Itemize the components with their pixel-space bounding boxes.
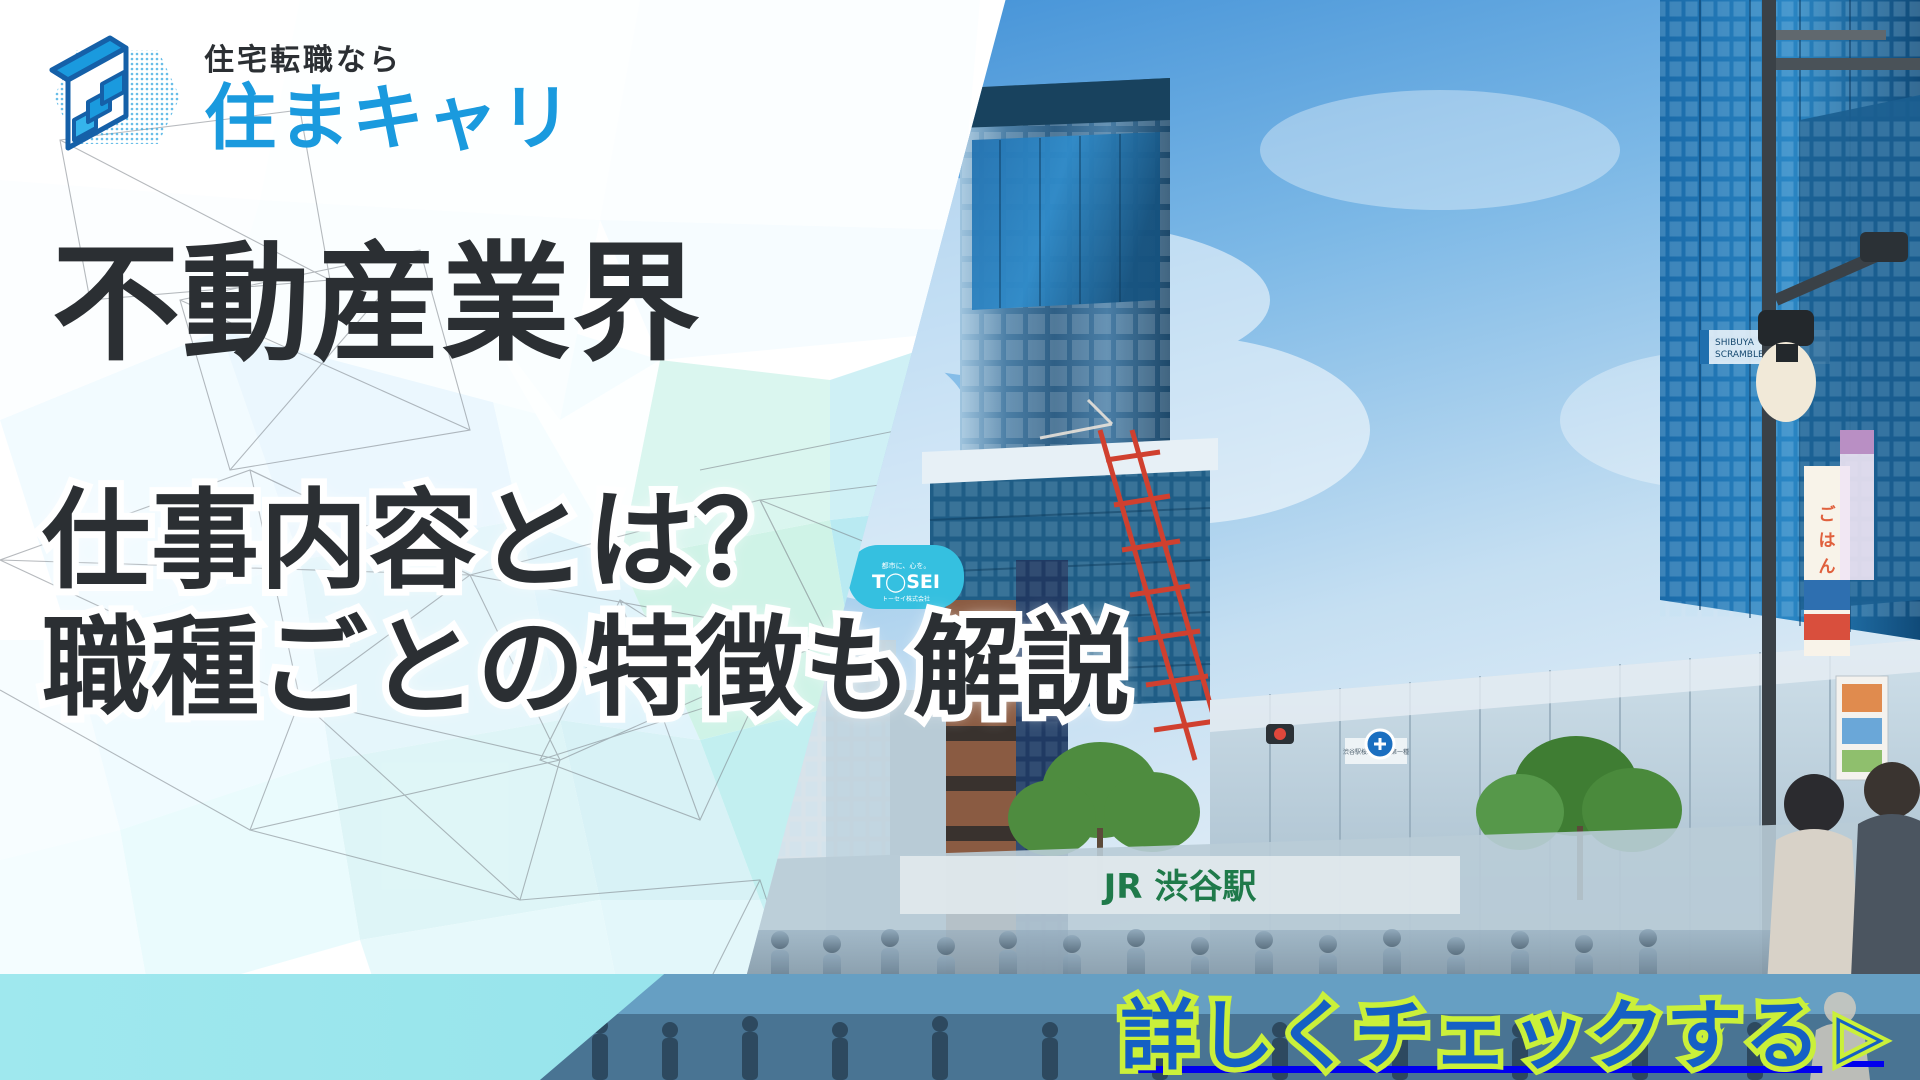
road-sign [1366,730,1394,758]
hero-subtitle: 仕事内容とは？ 職種ごとの特徴も解説 [42,478,1131,733]
page-title: 不動産業界 [52,238,702,372]
subtitle-line-2: 職種ごとの特徴も解説 [42,605,1131,732]
cta-button[interactable]: 詳しくチェックする ▷ [1120,998,1884,1074]
street-banner-2 [1840,430,1874,580]
house-stairs-icon [40,22,190,172]
svg-text:SHIBUYA: SHIBUYA [1715,338,1755,348]
subtitle-line-1: 仕事内容とは？ [42,478,1131,605]
brand-tagline: 住宅転職なら [204,46,574,76]
brand-logo[interactable]: 住宅転職なら 住まキャリ [40,22,574,172]
svg-text:ん: ん [1819,557,1836,577]
svg-text:ご: ご [1819,504,1837,525]
foreground-pedestrians [1766,762,1920,1000]
svg-text:は: は [1819,531,1836,551]
svg-text:JR 渋谷駅: JR 渋谷駅 [1102,867,1257,907]
brand-name: 住まキャリ [204,82,574,154]
poster-board [1836,676,1888,780]
cta-label: 詳しくチェックする [1120,998,1822,1074]
hero-banner: SHIBUYA SCRAMBLE SQUARE [0,0,1920,1080]
play-triangle-icon: ▷ [1836,1005,1884,1067]
pedestrian-light [1266,724,1294,744]
